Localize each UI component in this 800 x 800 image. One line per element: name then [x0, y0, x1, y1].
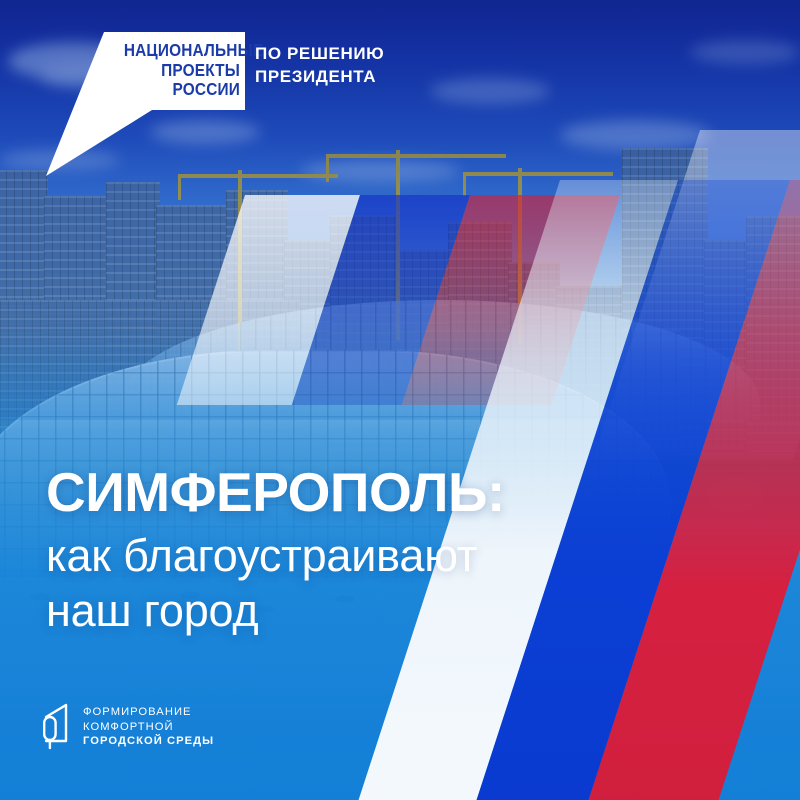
tagline-line-1: ПО РЕШЕНИЮ [255, 42, 384, 65]
programme-line-2: КОМФОРТНОЙ [83, 720, 214, 735]
headline-subline-1: как благоустраивают [46, 528, 686, 583]
programme-wordmark: ФОРМИРОВАНИЕ КОМФОРТНОЙ ГОРОДСКОЙ СРЕДЫ [83, 705, 214, 749]
logo-line-2: ПРОЕКТЫ [124, 61, 240, 81]
headline-city: СИМФЕРОПОЛЬ: [46, 462, 686, 522]
logo-wordmark: НАЦИОНАЛЬНЫЕ ПРОЕКТЫ РОССИИ [124, 41, 240, 100]
logo-line-3: РОССИИ [124, 80, 240, 100]
national-projects-logo: НАЦИОНАЛЬНЫЕ ПРОЕКТЫ РОССИИ [0, 0, 260, 190]
programme-line-3: ГОРОДСКОЙ СРЕДЫ [83, 734, 214, 749]
headline-block: СИМФЕРОПОЛЬ: как благоустраивают наш гор… [46, 462, 686, 638]
headline-subline-2: наш город [46, 583, 686, 638]
tagline-line-2: ПРЕЗИДЕНТА [255, 65, 384, 88]
house-keyhole-icon [40, 703, 72, 751]
comfortable-urban-environment-logo: ФОРМИРОВАНИЕ КОМФОРТНОЙ ГОРОДСКОЙ СРЕДЫ [40, 703, 214, 751]
president-tagline: ПО РЕШЕНИЮ ПРЕЗИДЕНТА [255, 42, 384, 88]
programme-line-1: ФОРМИРОВАНИЕ [83, 705, 214, 720]
logo-line-1: НАЦИОНАЛЬНЫЕ [124, 41, 240, 61]
poster-root: НАЦИОНАЛЬНЫЕ ПРОЕКТЫ РОССИИ ПО РЕШЕНИЮ П… [0, 0, 800, 800]
